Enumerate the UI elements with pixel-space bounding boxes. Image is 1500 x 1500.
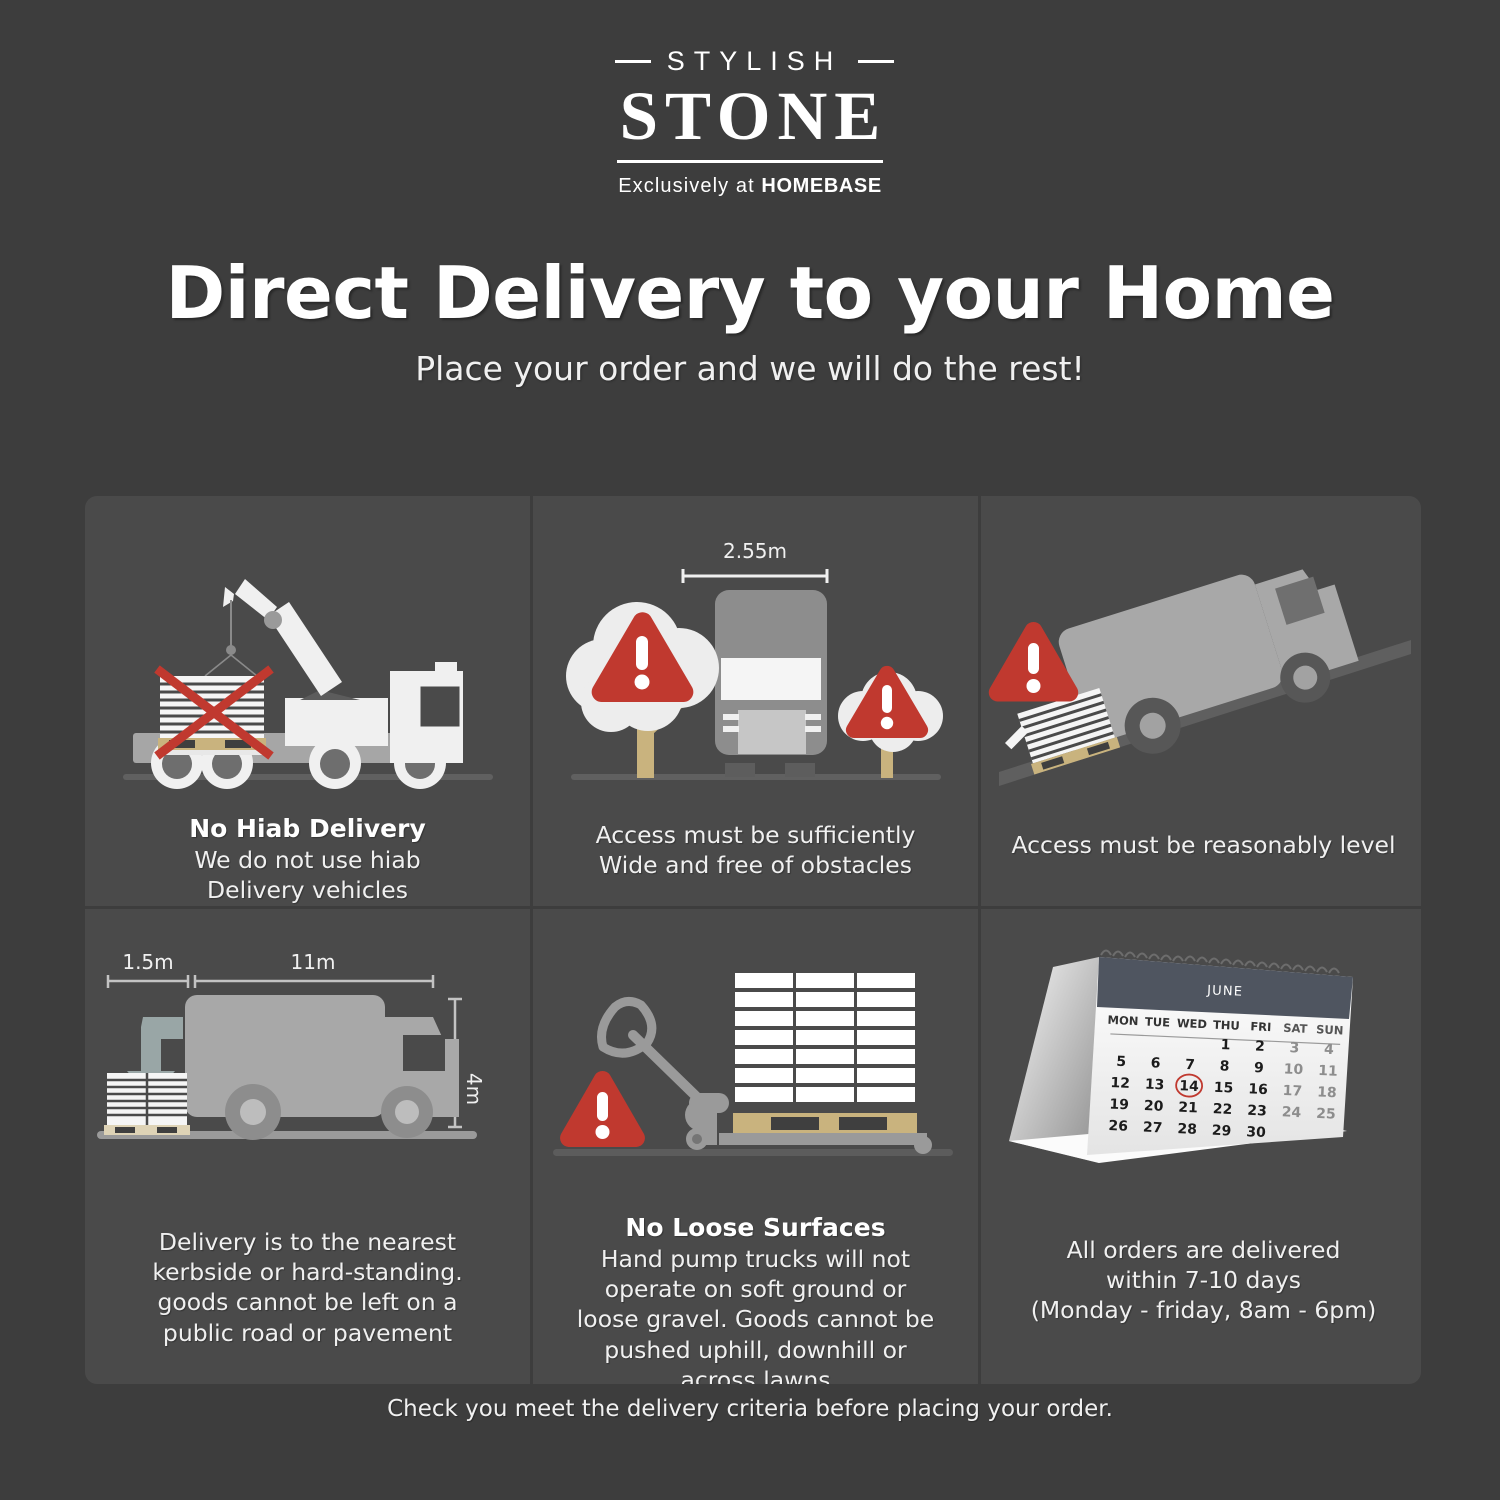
dimension-label-length: 11m	[291, 950, 336, 974]
dimension-label-tail: 1.5m	[122, 950, 173, 974]
calendar-day-30[interactable]: 30	[1246, 1124, 1266, 1141]
calendar-day-24[interactable]: 24	[1281, 1104, 1301, 1121]
calendar-day-8[interactable]: 8	[1219, 1058, 1229, 1074]
caption-access-width: Access must be sufficiently Wide and fre…	[533, 820, 978, 881]
calendar-day-23[interactable]: 23	[1247, 1102, 1267, 1119]
calendar-day-17[interactable]: 17	[1282, 1082, 1302, 1099]
calendar-day-18[interactable]: 18	[1317, 1084, 1337, 1101]
calendar-day-1[interactable]: 1	[1220, 1037, 1230, 1053]
calendar-weekday-sat: SAT	[1283, 1020, 1308, 1035]
panel-body-no-loose-surfaces: Hand pump trucks will not operate on sof…	[545, 1244, 966, 1384]
illustration-access-width: 2.55m	[533, 528, 978, 800]
page-subtitle: Place your order and we will do the rest…	[0, 349, 1500, 388]
calendar-day-4[interactable]: 4	[1324, 1041, 1335, 1057]
calendar-day-13[interactable]: 13	[1145, 1076, 1165, 1093]
calendar-day-20[interactable]: 20	[1144, 1098, 1164, 1115]
calendar-day-7[interactable]: 7	[1185, 1057, 1195, 1073]
criteria-grid: No Hiab Delivery We do not use hiab Deli…	[85, 496, 1421, 1384]
calendar-day-2[interactable]: 2	[1255, 1038, 1265, 1054]
brand-main-line: STONE	[0, 81, 1500, 151]
panel-nearest-kerbside: 1.5m 11m 4m	[85, 909, 530, 1384]
calendar-weekday-thu: THU	[1213, 1017, 1240, 1032]
calendar-day-16[interactable]: 16	[1248, 1081, 1268, 1098]
panel-access-level: Access must be reasonably level	[981, 496, 1421, 906]
calendar-day-12[interactable]: 12	[1110, 1075, 1130, 1092]
dimension-label-height: 4m	[462, 1073, 486, 1105]
calendar-day-6[interactable]: 6	[1150, 1055, 1160, 1071]
illustration-access-level	[981, 528, 1421, 800]
calendar-day-25[interactable]: 25	[1316, 1106, 1336, 1123]
calendar-day-10[interactable]: 10	[1283, 1061, 1303, 1078]
calendar-day-22[interactable]: 22	[1212, 1101, 1232, 1118]
calendar-day-15[interactable]: 15	[1213, 1079, 1233, 1096]
panel-title-no-hiab: No Hiab Delivery	[97, 812, 518, 845]
logo-dash-right-icon	[858, 60, 894, 63]
calendar-day-21[interactable]: 21	[1178, 1099, 1198, 1116]
calendar-day-3[interactable]: 3	[1289, 1040, 1299, 1056]
illustration-hiab-truck	[85, 528, 530, 800]
calendar-weekday-sun: SUN	[1316, 1022, 1344, 1037]
panel-delivery-window: JUNE MONTUEWEDTHUFRISATSUN 1234567891011…	[981, 909, 1421, 1384]
dimension-label-width: 2.55m	[723, 539, 787, 563]
footer-note: Check you meet the delivery criteria bef…	[0, 1396, 1500, 1422]
brand-sub-line: Exclusively at HOMEBASE	[0, 175, 1500, 198]
caption-no-loose-surfaces: No Loose Surfaces Hand pump trucks will …	[533, 1211, 978, 1384]
brand-sub-prefix: Exclusively at	[618, 175, 761, 197]
illustration-calendar: JUNE MONTUEWEDTHUFRISATSUN 1234567891011…	[981, 927, 1421, 1189]
calendar-weekday-mon: MON	[1107, 1012, 1138, 1027]
brand-sub-name: HOMEBASE	[761, 175, 881, 197]
calendar-day-27[interactable]: 27	[1143, 1119, 1163, 1136]
panel-body-delivery-window: All orders are delivered within 7-10 day…	[993, 1235, 1414, 1326]
calendar-day-11[interactable]: 11	[1318, 1063, 1338, 1080]
caption-access-level: Access must be reasonably level	[981, 830, 1421, 860]
panel-body-no-hiab: We do not use hiab Delivery vehicles	[97, 845, 518, 906]
caption-nearest-kerbside: Delivery is to the nearest kerbside or h…	[85, 1227, 530, 1348]
caption-no-hiab: No Hiab Delivery We do not use hiab Deli…	[85, 812, 530, 906]
calendar-month-label: JUNE	[1206, 983, 1244, 999]
calendar-weekday-fri: FRI	[1250, 1019, 1272, 1034]
panel-body-nearest-kerbside: Delivery is to the nearest kerbside or h…	[97, 1227, 518, 1348]
caption-delivery-window: All orders are delivered within 7-10 day…	[981, 1235, 1421, 1326]
panel-no-loose-surfaces: No Loose Surfaces Hand pump trucks will …	[533, 909, 978, 1384]
brand-logo: STYLISH STONE Exclusively at HOMEBASE	[0, 0, 1500, 198]
logo-divider	[617, 160, 883, 163]
panel-body-access-level: Access must be reasonably level	[993, 830, 1414, 860]
panel-title-no-loose-surfaces: No Loose Surfaces	[545, 1211, 966, 1244]
calendar-day-19[interactable]: 19	[1109, 1096, 1129, 1113]
illustration-pallet-truck	[533, 927, 978, 1189]
brand-top-line: STYLISH	[667, 46, 843, 77]
calendar-day-9[interactable]: 9	[1254, 1060, 1264, 1076]
calendar-day-26[interactable]: 26	[1108, 1118, 1128, 1135]
panel-access-width: 2.55m	[533, 496, 978, 906]
panel-body-access-width: Access must be sufficiently Wide and fre…	[545, 820, 966, 881]
page-title: Direct Delivery to your Home	[0, 251, 1500, 335]
illustration-truck-dimensions: 1.5m 11m 4m	[85, 927, 530, 1189]
calendar-day-14[interactable]: 14	[1179, 1078, 1199, 1095]
calendar-weekday-tue: TUE	[1145, 1014, 1171, 1029]
warning-triangle-icon	[560, 1071, 645, 1147]
brand-top-line-row: STYLISH	[0, 46, 1500, 77]
calendar-day-5[interactable]: 5	[1116, 1053, 1126, 1069]
calendar-day-29[interactable]: 29	[1211, 1122, 1231, 1139]
calendar-day-28[interactable]: 28	[1177, 1121, 1197, 1138]
calendar-weekday-wed: WED	[1177, 1016, 1208, 1031]
panel-no-hiab-delivery: No Hiab Delivery We do not use hiab Deli…	[85, 496, 530, 906]
logo-dash-left-icon	[615, 60, 651, 63]
